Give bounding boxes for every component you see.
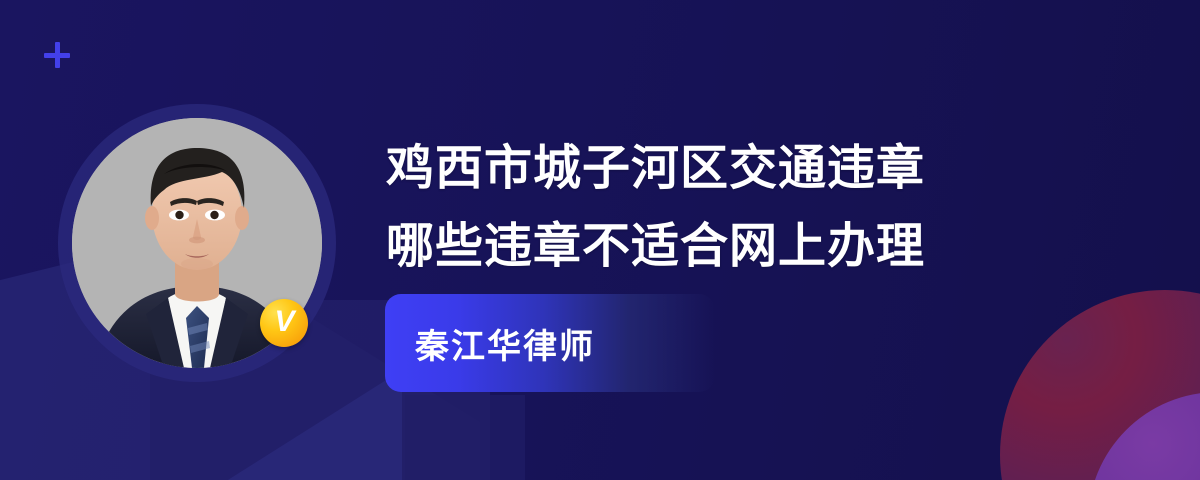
page-title-line-2: 哪些违章不适合网上办理 xyxy=(386,208,1086,286)
verified-badge-icon: V xyxy=(260,299,308,347)
avatar: V xyxy=(58,104,336,382)
lawyer-name-label: 秦江华律师 xyxy=(385,319,595,368)
page-title: 鸡西市城子河区交通违章 哪些违章不适合网上办理 xyxy=(386,130,1086,286)
plus-icon xyxy=(44,42,70,68)
verified-badge-label: V xyxy=(274,307,293,337)
lawyer-banner: V 鸡西市城子河区交通违章 哪些违章不适合网上办理 秦江华律师 xyxy=(0,0,1200,480)
status-badge: 秦江华律师 xyxy=(385,294,715,392)
page-title-line-1: 鸡西市城子河区交通违章 xyxy=(386,130,1086,208)
